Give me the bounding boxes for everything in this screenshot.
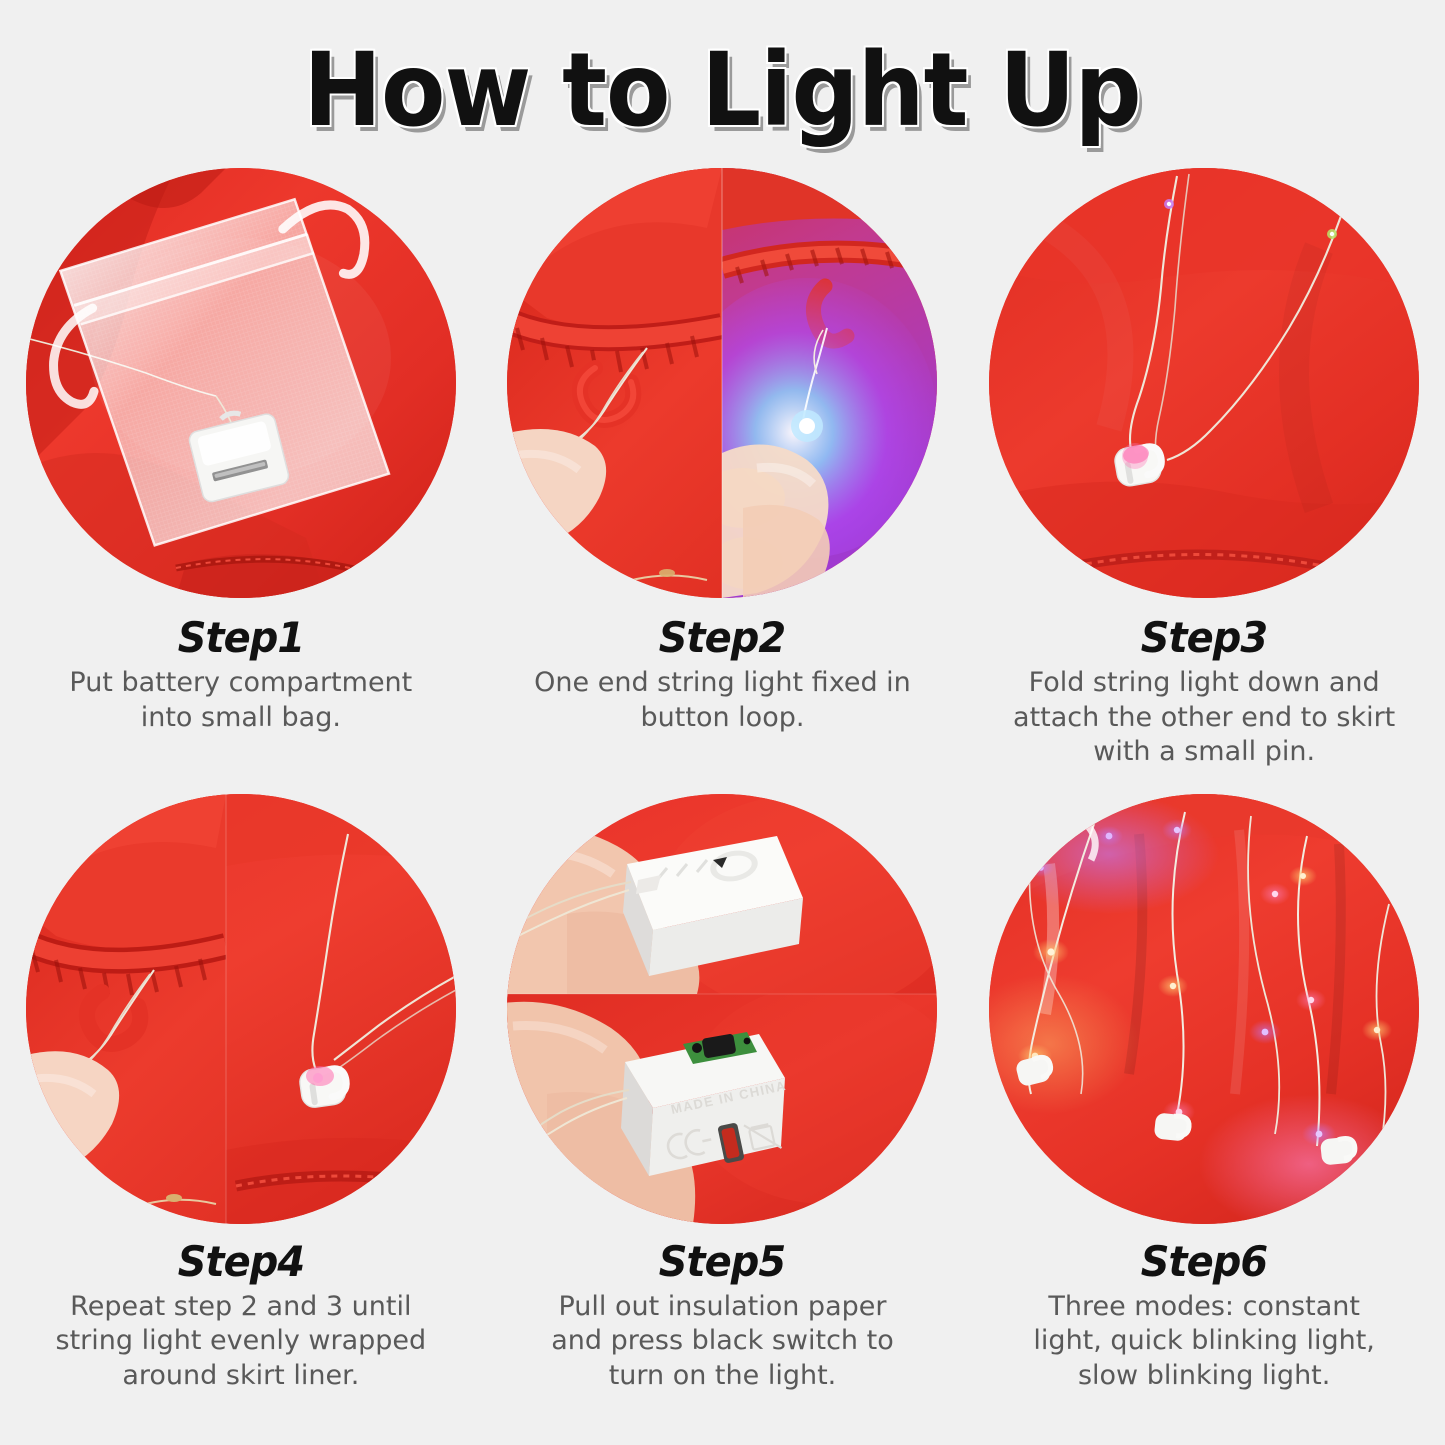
step-4-photo [26,794,456,1224]
step-4-label: Step4 [41,1240,440,1284]
step-1-photo [26,168,456,598]
step-card-3: Step3 Fold string light down and attach … [963,168,1445,770]
step-5-caption: Step5 Pull out insulation paper and pres… [512,1240,932,1394]
step-6-photo [989,794,1419,1224]
step-card-2: Step2 One end string light fixed in butt… [482,168,964,770]
step-3-label: Step3 [1005,616,1404,660]
step-3-caption: Step3 Fold string light down and attach … [994,616,1414,770]
step-1-text: Put battery compartment into small bag. [31,666,451,735]
page-title: How to Light Up [304,31,1141,150]
step-6-label: Step6 [1005,1240,1404,1284]
step-2-text: One end string light fixed in button loo… [512,666,932,735]
step-5-label: Step5 [523,1240,922,1284]
step-3-text: Fold string light down and attach the ot… [994,666,1414,770]
step-2-photo [507,168,937,598]
step-2-label: Step2 [523,616,922,660]
step-5-photo: MADE IN CHINA [507,794,937,1224]
header: How to Light Up [0,0,1445,168]
step-1-caption: Step1 Put battery compartment into small… [31,616,451,735]
step-1-label: Step1 [41,616,440,660]
step-2-caption: Step2 One end string light fixed in butt… [512,616,932,735]
step-3-photo [989,168,1419,598]
step-5-text: Pull out insulation paper and press blac… [512,1290,932,1394]
step-card-5: MADE IN CHINA [482,794,964,1394]
step-card-6: Step6 Three modes: constant light, quick… [963,794,1445,1394]
steps-grid: Step1 Put battery compartment into small… [0,168,1445,1393]
step-4-caption: Step4 Repeat step 2 and 3 until string l… [31,1240,451,1394]
step-card-1: Step1 Put battery compartment into small… [0,168,482,770]
step-6-caption: Step6 Three modes: constant light, quick… [994,1240,1414,1394]
step-6-text: Three modes: constant light, quick blink… [994,1290,1414,1394]
step-card-4: Step4 Repeat step 2 and 3 until string l… [0,794,482,1394]
step-4-text: Repeat step 2 and 3 until string light e… [31,1290,451,1394]
